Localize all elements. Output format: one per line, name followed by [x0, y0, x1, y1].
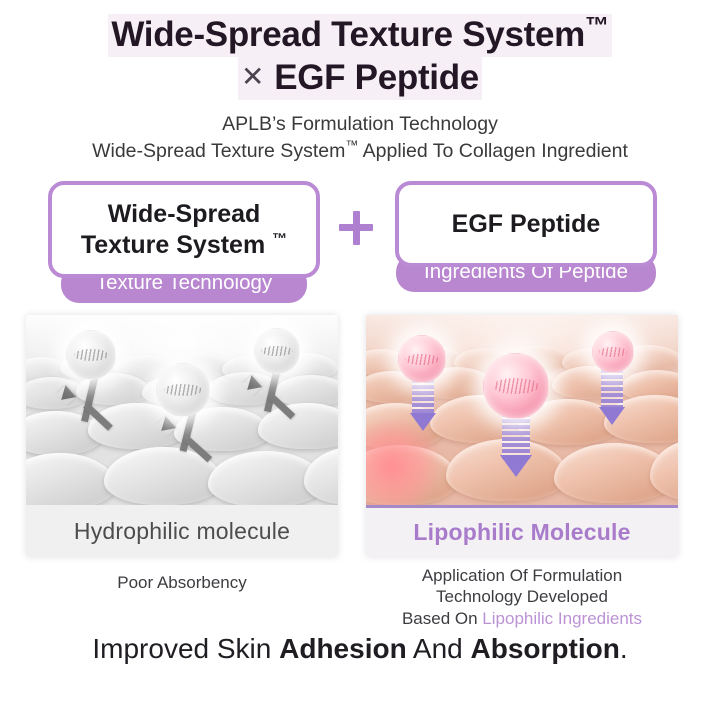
lipophilic-panel: Lipophilic Molecule — [366, 315, 678, 557]
footer-part-2: And — [407, 633, 471, 664]
formulation-caption-line1: Application Of Formulation — [366, 565, 678, 586]
molecule-texture — [261, 346, 293, 357]
subtitle-block: APLB’s Formulation Technology Wide-Sprea… — [0, 111, 720, 166]
egf-peptide-card: EGF Peptide Ingredients Of Peptide — [395, 181, 657, 292]
molecule-texture — [405, 354, 438, 365]
comparison-panels: Hydrophilic molecule — [0, 315, 720, 560]
molecule-texture — [164, 384, 201, 396]
formula-row: Wide-Spread Texture System ™ Texture Tec… — [0, 181, 720, 311]
formulation-caption-line2: Technology Developed — [366, 586, 678, 607]
subtitle-line-2: Wide-Spread Texture System™ Applied To C… — [0, 138, 720, 166]
arrow-head — [410, 413, 436, 431]
hydrophilic-panel: Hydrophilic molecule — [26, 315, 338, 557]
subtitle-line-1: APLB’s Formulation Technology — [0, 111, 720, 139]
absorption-arrow — [601, 369, 623, 431]
footer-part-3: . — [620, 633, 628, 664]
molecule-texture — [599, 347, 628, 357]
multiply-icon: ✕ — [241, 61, 274, 92]
lipophilic-molecule-bubble — [483, 353, 549, 419]
hydrophilic-illustration — [26, 315, 338, 505]
footer-part-1: Improved Skin — [92, 633, 279, 664]
footer-bold-adhesion: Adhesion — [279, 633, 407, 664]
title-block: Wide-Spread Texture System™ ✕EGF Peptide — [0, 0, 720, 100]
title-line-1: Wide-Spread Texture System™ — [0, 14, 720, 57]
texture-card-body: Wide-Spread Texture System ™ — [48, 181, 320, 278]
hydrophilic-molecule-bubble — [156, 363, 210, 417]
subtitle-line-2-a: Wide-Spread Texture System — [92, 140, 345, 162]
trademark-icon: ™ — [345, 138, 358, 153]
footer-claim: Improved Skin Adhesion And Absorption. — [0, 633, 720, 665]
title-line-2: ✕EGF Peptide — [0, 57, 720, 100]
texture-card-line1: Wide-Spread — [108, 200, 261, 228]
subtitle-line-2-b: Applied To Collagen Ingredient — [358, 140, 628, 162]
trademark-icon: ™ — [272, 230, 287, 247]
footer-bold-absorption: Absorption — [471, 633, 620, 664]
plus-icon — [339, 211, 373, 245]
sub-captions: Poor Absorbency Application Of Formulati… — [0, 565, 720, 627]
title-text-2: EGF Peptide — [274, 58, 479, 97]
arrow-head — [599, 407, 625, 425]
arrow-shaft — [601, 369, 623, 409]
molecule-texture — [74, 349, 109, 361]
texture-card-line2: Texture System — [81, 231, 272, 259]
lipophilic-ingredients-highlight: Lipophilic Ingredients — [482, 609, 642, 628]
formulation-caption-line3-a: Based On — [402, 609, 482, 628]
formulation-caption-line3: Based On Lipophilic Ingredients — [366, 608, 678, 629]
poor-absorbency-caption: Poor Absorbency — [26, 565, 338, 593]
hydrophilic-molecule-bubble — [254, 328, 300, 374]
lipophilic-molecule-bubble — [592, 331, 634, 373]
lipophilic-molecule-bubble — [398, 335, 446, 383]
title-text-1: Wide-Spread Texture System — [111, 15, 585, 54]
hydrophilic-molecule-bubble — [66, 330, 116, 380]
hydrophilic-caption: Hydrophilic molecule — [26, 505, 338, 557]
title-highlight-2: ✕EGF Peptide — [238, 57, 482, 100]
formulation-caption: Application Of Formulation Technology De… — [366, 565, 678, 629]
arrow-head — [500, 455, 532, 477]
peptide-card-line1: EGF Peptide — [452, 210, 601, 239]
title-highlight-1: Wide-Spread Texture System™ — [108, 14, 611, 57]
molecule-texture — [493, 378, 539, 393]
lipophilic-caption: Lipophilic Molecule — [366, 505, 678, 557]
trademark-icon: ™ — [585, 12, 609, 39]
texture-technology-card: Wide-Spread Texture System ™ Texture Tec… — [48, 181, 320, 303]
peptide-card-body: EGF Peptide — [395, 181, 657, 267]
lipophilic-illustration — [366, 315, 678, 505]
